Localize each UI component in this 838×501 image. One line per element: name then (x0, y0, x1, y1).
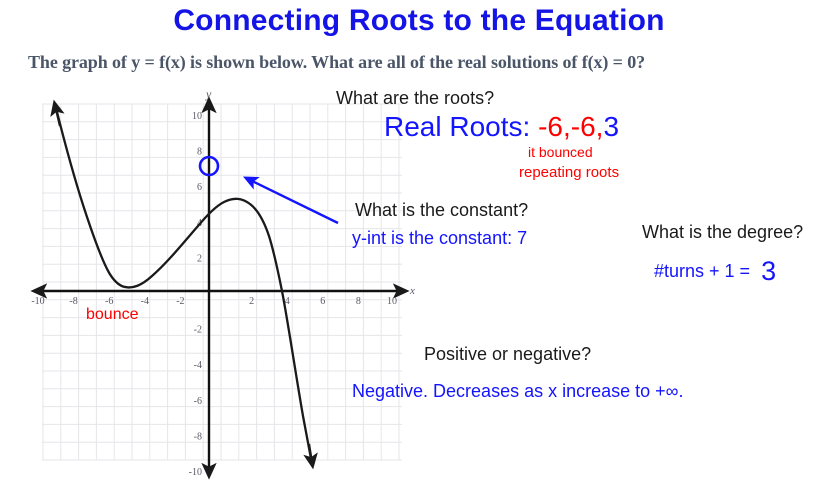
bounce-label: bounce (86, 306, 139, 324)
sign-answer: Negative. Decreases as x increase to +∞. (352, 381, 684, 402)
bounced-note: it bounced (528, 144, 593, 160)
svg-text:2: 2 (197, 253, 202, 264)
function-graph: x y -10 -8 -6 -4 -2 2 4 6 8 10 10 8 6 4 (20, 86, 420, 486)
graph-gridlines (42, 104, 402, 460)
slide-canvas: Connecting Roots to the Equation The gra… (0, 0, 838, 501)
svg-text:-8: -8 (194, 431, 202, 442)
degree-formula: #turns + 1 = (654, 261, 755, 281)
page-subtitle: The graph of y = f(x) is shown below. Wh… (28, 52, 645, 73)
svg-text:2: 2 (249, 296, 254, 307)
svg-text:8: 8 (356, 296, 361, 307)
y-axis-label: y (205, 87, 212, 101)
function-curve (56, 108, 312, 464)
svg-text:-4: -4 (141, 296, 149, 307)
svg-text:8: 8 (197, 147, 202, 158)
roots-answer-repeated: -6,-6, (538, 111, 603, 142)
svg-text:-4: -4 (194, 360, 202, 371)
svg-text:-10: -10 (189, 467, 202, 478)
graph-svg: x y -10 -8 -6 -4 -2 2 4 6 8 10 10 8 6 4 (20, 86, 420, 486)
degree-answer: #turns + 1 = 3 (654, 256, 776, 287)
page-title: Connecting Roots to the Equation (0, 4, 838, 38)
roots-answer-label: Real Roots: (384, 111, 538, 142)
svg-text:10: 10 (387, 296, 397, 307)
degree-question: What is the degree? (642, 222, 803, 243)
svg-text:-2: -2 (176, 296, 184, 307)
svg-text:10: 10 (192, 111, 202, 122)
x-axis-label: x (409, 285, 415, 297)
curve-arrow-left (55, 103, 61, 126)
degree-value: 3 (755, 256, 776, 286)
svg-text:-10: -10 (31, 296, 44, 307)
roots-answer-single: 3 (603, 111, 619, 142)
constant-question: What is the constant? (355, 200, 528, 221)
constant-answer: y-int is the constant: 7 (352, 228, 527, 249)
sign-question: Positive or negative? (424, 344, 591, 365)
roots-answer: Real Roots: -6,-6,3 (384, 111, 619, 143)
svg-text:6: 6 (320, 296, 325, 307)
svg-text:-8: -8 (69, 296, 77, 307)
svg-text:-2: -2 (194, 325, 202, 336)
roots-question: What are the roots? (336, 88, 494, 109)
svg-text:6: 6 (197, 182, 202, 193)
repeating-roots-note: repeating roots (519, 164, 619, 181)
svg-text:-6: -6 (194, 396, 202, 407)
